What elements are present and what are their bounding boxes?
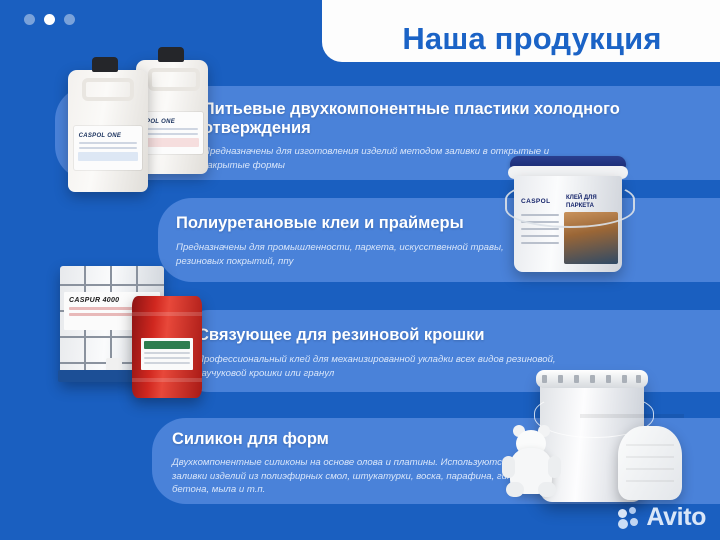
label-line [79,147,138,149]
canister-back-label-text: POL ONE [141,112,203,125]
canister-cap-icon [158,47,184,62]
barrel-label [141,338,193,370]
label-line [79,142,138,144]
ibc-tote-and-barrel-photo: CASPUR 4000 [60,266,202,398]
canister-handle [82,78,134,101]
slide-indicator-dots[interactable] [24,14,75,25]
label-line [146,133,198,135]
silicone-mold-form [618,426,682,500]
product-title: Литьевые двухкомпонентные пластики холод… [203,100,623,138]
canister-front-label: CASPOL ONE [74,126,143,170]
silicone-teddy-bear-mold [500,422,562,500]
parquet-glue-bucket-photo: CASPOL КЛЕЙ ДЛЯ ПАРКЕТА [508,150,628,275]
slide-dot-1[interactable] [24,14,35,25]
red-barrel [132,296,202,398]
label-line [146,128,198,130]
canister-front-label-text: CASPOL ONE [74,126,143,139]
title-card: Наша продукция [322,0,720,62]
canister-handle [148,68,200,91]
product-subtitle: Предназначены для промышленности, паркет… [176,241,536,268]
product-subtitle: Двухкомпонентные силиконы на основе олов… [172,456,527,497]
bucket-handle [505,180,635,228]
pail-clamp-ring [536,370,648,388]
slide-dot-2[interactable] [44,14,55,25]
product-title: Связующее для резиновой крошки [197,326,597,345]
canisters-photo: POL ONE CASPOL ONE [58,38,218,190]
avito-watermark: Avito [618,505,706,530]
product-card-polyurethane-adhesives[interactable]: Полиуретановые клеи и праймеры Предназна… [158,198,720,282]
slide-canvas: Наша продукция POL ONE CASPOL ONE [0,0,720,540]
canister-front: CASPOL ONE [68,70,148,192]
product-title: Силикон для форм [172,430,532,449]
avito-dots-logo [618,507,640,529]
slide-dot-3[interactable] [64,14,75,25]
avito-wordmark: Avito [646,505,706,530]
canister-cap-icon [92,57,118,72]
canister-back-label: POL ONE [141,112,203,154]
silicone-pail-and-molds-photo [500,368,696,516]
label-band [145,138,199,147]
page-title: Наша продукция [402,23,661,54]
label-band [78,152,139,161]
